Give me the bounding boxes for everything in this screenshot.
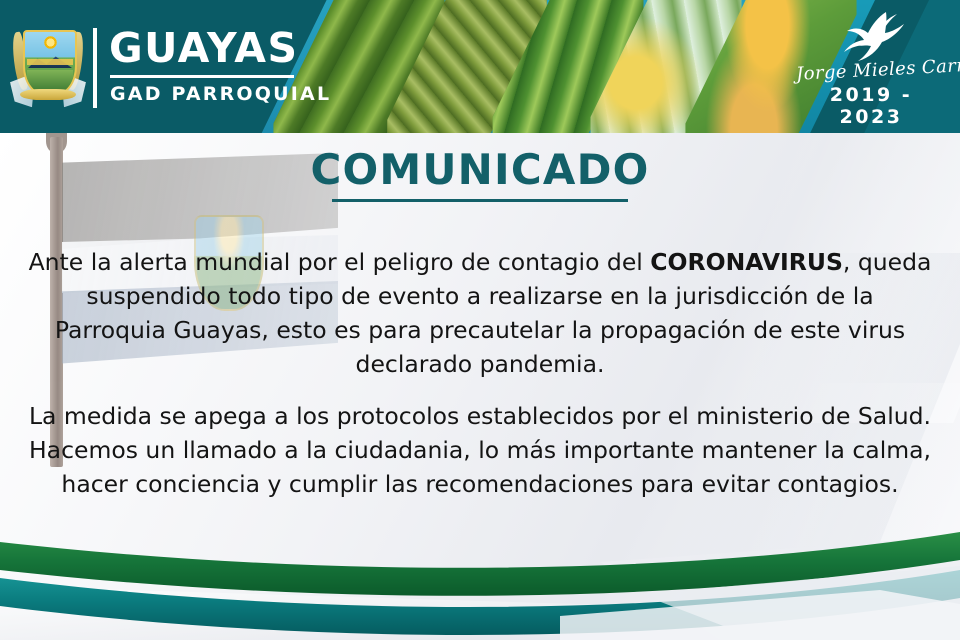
wordmark-divider — [93, 28, 97, 108]
dove-icon — [828, 8, 914, 64]
footer-wave-teal — [0, 570, 960, 635]
comunicado-poster: GUAYAS GAD PARROQUIAL Jorge Mieles Carre… — [0, 0, 960, 640]
header-photo-strip — [300, 0, 840, 133]
coronavirus-emphasis: CORONAVIRUS — [650, 248, 843, 276]
paragraph-one: Ante la alerta mundial por el peligro de… — [28, 245, 932, 381]
footer-waves — [0, 520, 960, 640]
wordmark-subtitle: GAD PARROQUIAL — [110, 82, 331, 106]
document-body: COMUNICADO Ante la alerta mundial por el… — [0, 133, 960, 640]
signature-block: Jorge Mieles Carrera 2019 - 2023 — [796, 8, 946, 126]
paragraph-one-lead: Ante la alerta mundial por el peligro de… — [29, 248, 651, 276]
page-title: COMUNICADO — [0, 145, 960, 194]
header-banner: GUAYAS GAD PARROQUIAL Jorge Mieles Carre… — [0, 0, 960, 133]
guayas-coat-of-arms-icon — [14, 16, 82, 116]
wordmark-title: GUAYAS — [109, 24, 299, 72]
page-title-underline — [332, 199, 628, 202]
guayas-wordmark: GUAYAS GAD PARROQUIAL — [93, 24, 298, 110]
wordmark-underline — [110, 75, 294, 78]
paragraph-two: La medida se apega a los protocolos esta… — [28, 399, 932, 501]
signature-years: 2019 - 2023 — [796, 84, 946, 128]
footer-wave-green — [0, 532, 960, 596]
signature-name: Jorge Mieles Carrera — [796, 56, 947, 85]
